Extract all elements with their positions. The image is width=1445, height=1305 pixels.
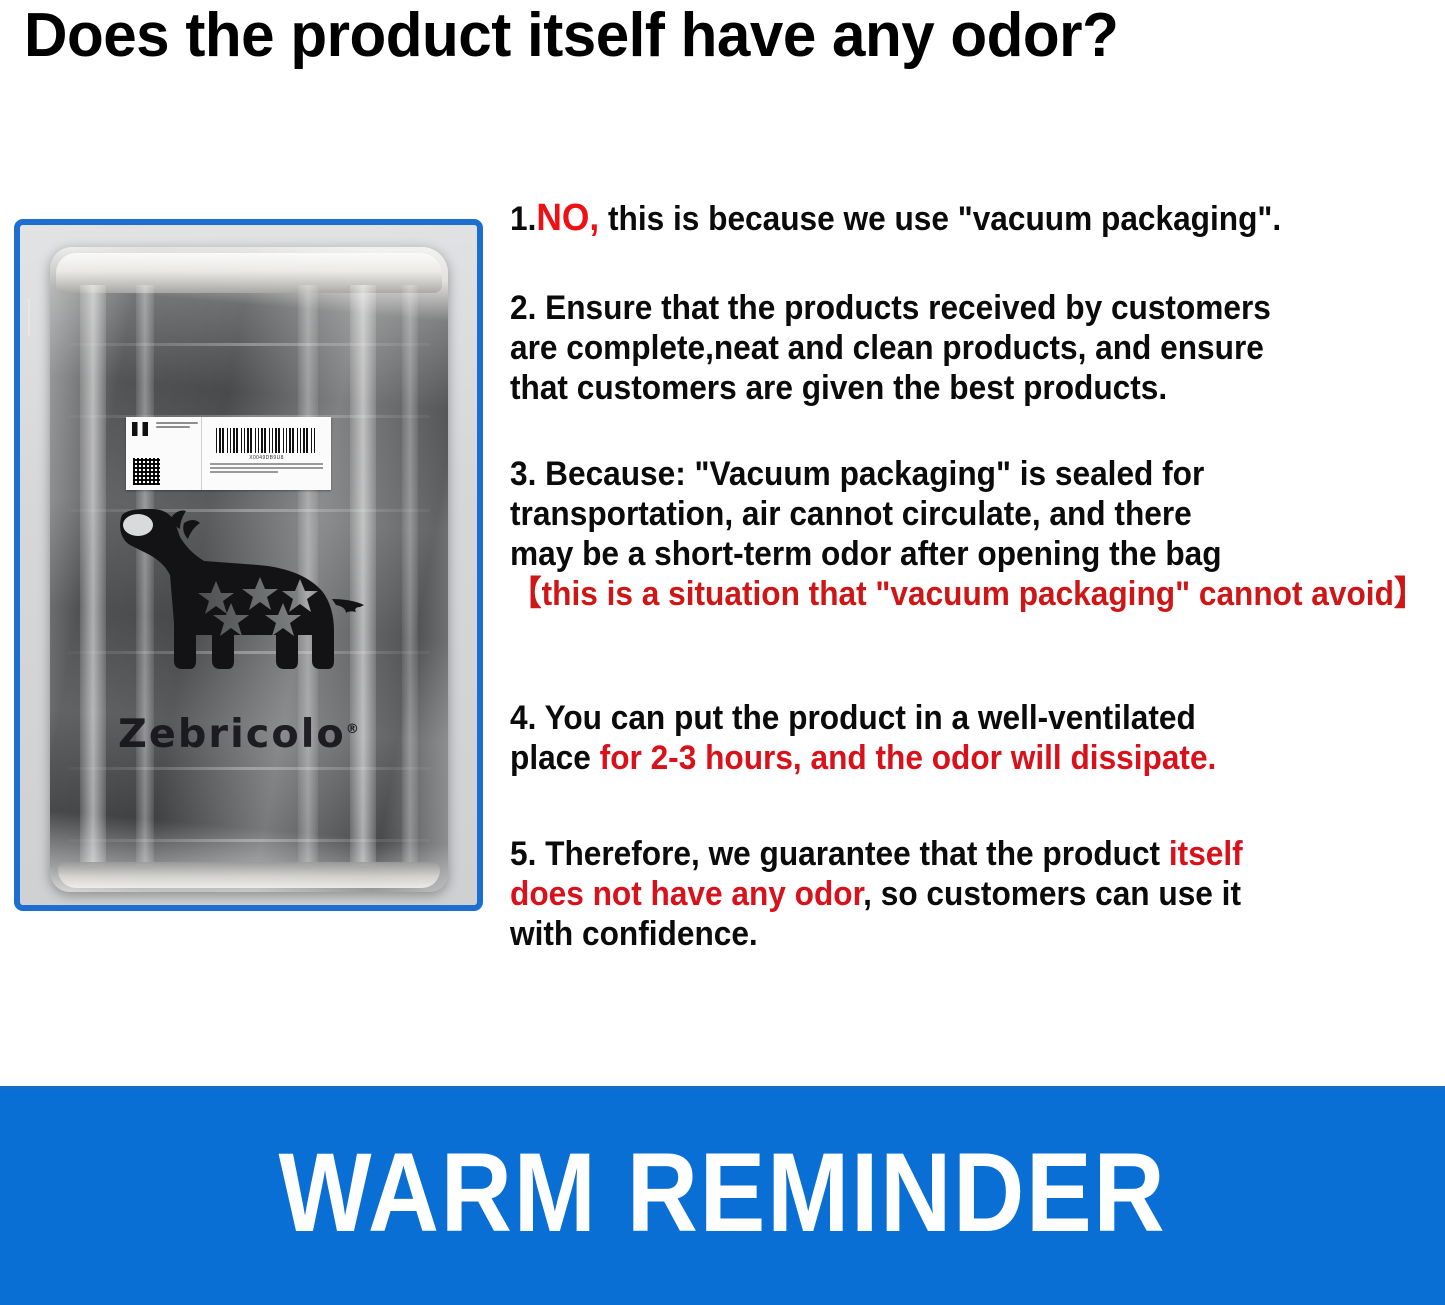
label-tail (28, 298, 30, 336)
datamatrix-icon (132, 422, 148, 436)
reason-3-line: may be a short-term odor after opening t… (510, 534, 1417, 574)
bag-seal-strip (80, 285, 106, 866)
reason-4-line2: place for 2-3 hours, and the odor will d… (510, 738, 1417, 778)
reason-item-3: 3. Because: "Vacuum packaging" is sealed… (510, 454, 1417, 614)
reason-3-line: transportation, air cannot circulate, an… (510, 494, 1417, 534)
reason-4-line: 4. You can put the product in a well-ven… (510, 698, 1417, 738)
reason-5-black-b: , so customers can use it (863, 875, 1241, 913)
banner-title: WARM REMINDER (87, 1133, 1359, 1253)
reason-2-line: are complete,neat and clean products, an… (510, 328, 1417, 368)
plastic-crinkle (68, 767, 430, 770)
bag-seal-strip (402, 285, 418, 866)
reason-item-5: 5. Therefore, we guarantee that the prod… (510, 834, 1417, 954)
reason-4-red: for 2-3 hours, and the odor will dissipa… (600, 739, 1217, 777)
label-address-lines (156, 422, 198, 430)
reason-1-text: this is because we use "vacuum packaging… (608, 200, 1281, 238)
reason-1-emphasis: NO, (536, 197, 599, 239)
bag-top-seal (56, 253, 442, 293)
product-photo-frame: X0049DB9U8 (14, 219, 483, 911)
reason-4-black: place (510, 739, 591, 777)
reason-5-black-a: 5. Therefore, we guarantee that the prod… (510, 835, 1160, 873)
plastic-crinkle (68, 839, 430, 842)
reason-5-line2: does not have any odor, so customers can… (510, 874, 1417, 914)
reason-item-4: 4. You can put the product in a well-ven… (510, 698, 1417, 778)
reason-2-line: that customers are given the best produc… (510, 368, 1417, 408)
reason-2-line: 2. Ensure that the products received by … (510, 288, 1417, 328)
reason-3-red-note: 【this is a situation that "vacuum packag… (510, 574, 1417, 614)
reason-5-red-b: does not have any odor (510, 875, 863, 913)
label-fineprint (208, 463, 325, 473)
infographic-page: Does the product itself have any odor? (0, 0, 1445, 1305)
plastic-crinkle (68, 343, 430, 346)
barcode-icon (216, 428, 317, 453)
barcode-number: X0049DB9U8 (208, 455, 325, 461)
page-title: Does the product itself have any odor? (24, 0, 1382, 75)
reason-item-2: 2. Ensure that the products received by … (510, 288, 1417, 408)
qr-code-icon (133, 458, 160, 485)
registered-mark: ® (346, 722, 361, 737)
reason-3-line: 3. Because: "Vacuum packaging" is sealed… (510, 454, 1417, 494)
shipping-label: X0049DB9U8 (126, 417, 331, 490)
label-right-panel: X0049DB9U8 (202, 417, 331, 490)
bag-bottom-seal (58, 862, 440, 888)
product-photo: X0049DB9U8 (20, 225, 477, 905)
reasons-list: 1.NO, this is because we use "vacuum pac… (510, 198, 1415, 954)
reason-5-red-a: itself (1169, 835, 1243, 873)
label-left-panel (126, 417, 202, 490)
brand-wordmark: Zebricolo® (118, 712, 361, 757)
brand-name: Zebricolo (118, 712, 346, 757)
reason-5-line1: 5. Therefore, we guarantee that the prod… (510, 834, 1417, 874)
reason-item-1: 1.NO, this is because we use "vacuum pac… (510, 198, 1417, 239)
reason-1-number: 1. (510, 200, 536, 238)
reason-5-line3: with confidence. (510, 914, 1417, 954)
warm-reminder-banner: WARM REMINDER (0, 1086, 1445, 1305)
